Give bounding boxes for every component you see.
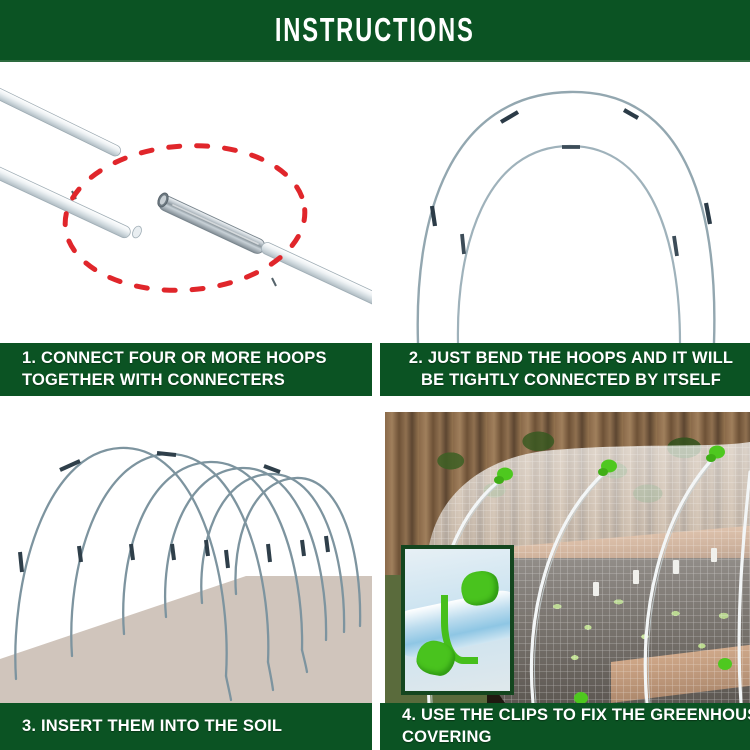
rod-upper xyxy=(0,78,122,158)
rod-tick-lower xyxy=(272,278,276,286)
caption-step-2-line-1: 2. JUST BEND THE HOOPS AND IT WILL xyxy=(402,348,740,370)
page-title: INSTRUCTIONS xyxy=(275,11,475,49)
rod-upper-bar xyxy=(0,165,132,240)
arch-connector-marks-inner xyxy=(462,147,677,256)
hoops-in-soil-illustration xyxy=(0,404,372,703)
step-2-text-line-2: BE TIGHTLY CONNECTED BY ITSELF xyxy=(402,370,740,392)
arch-connector-marks-outer xyxy=(432,110,710,226)
step-4-text-line-1: USE THE CLIPS TO FIX THE GREENHOUSE xyxy=(421,706,750,724)
panel-step-2 xyxy=(380,66,750,343)
step-2-text-line-1: JUST BEND THE HOOPS AND IT WILL xyxy=(428,349,733,367)
caption-step-3-line-1: 3. INSERT THEM INTO THE SOIL xyxy=(22,716,362,738)
panel-gutter xyxy=(372,62,380,750)
clip-5 xyxy=(718,658,732,670)
bent-hoops-illustration xyxy=(380,66,750,343)
caption-step-4-line-1: 4. USE THE CLIPS TO FIX THE GREENHOUSE xyxy=(402,705,740,727)
panel-step-1 xyxy=(0,66,372,343)
rod-lower-bar xyxy=(259,241,372,307)
soil-ground xyxy=(0,576,372,703)
greenhouse-photo xyxy=(385,412,750,703)
rod-connector-illustration xyxy=(0,66,372,343)
connector-highlight xyxy=(173,205,258,244)
step-3-number: 3. xyxy=(22,717,36,735)
hoop-arch-inner xyxy=(458,146,680,343)
caption-step-2: 2. JUST BEND THE HOOPS AND IT WILL BE TI… xyxy=(380,343,750,396)
hoop-arch-outer xyxy=(418,92,715,343)
caption-step-1-line-1: 1. CONNECT FOUR OR MORE HOOPS xyxy=(22,348,362,370)
caption-step-1: 1. CONNECT FOUR OR MORE HOOPS TOGETHER W… xyxy=(0,343,372,396)
header-band: INSTRUCTIONS xyxy=(0,0,750,62)
step-2-number: 2. xyxy=(409,349,423,367)
panel-step-3 xyxy=(0,404,372,703)
step-1-text-line-1: CONNECT FOUR OR MORE HOOPS xyxy=(41,349,327,367)
metal-connector-sleeve xyxy=(157,194,268,256)
step-4-text-line-2: COVERING xyxy=(402,727,740,749)
step-1-text-line-2: TOGETHER WITH CONNECTERS xyxy=(22,370,362,392)
step-1-number: 1. xyxy=(22,349,36,367)
step-4-number: 4. xyxy=(402,706,416,724)
caption-step-3: 3. INSERT THEM INTO THE SOIL xyxy=(0,703,372,750)
instructions-infographic: INSTRUCTIONS xyxy=(0,0,750,750)
panel-step-4 xyxy=(380,404,750,703)
step-3-text-line-1: INSERT THEM INTO THE SOIL xyxy=(41,717,282,735)
clip-closeup-inset xyxy=(401,545,514,695)
caption-step-4: 4. USE THE CLIPS TO FIX THE GREENHOUSE C… xyxy=(380,703,750,750)
